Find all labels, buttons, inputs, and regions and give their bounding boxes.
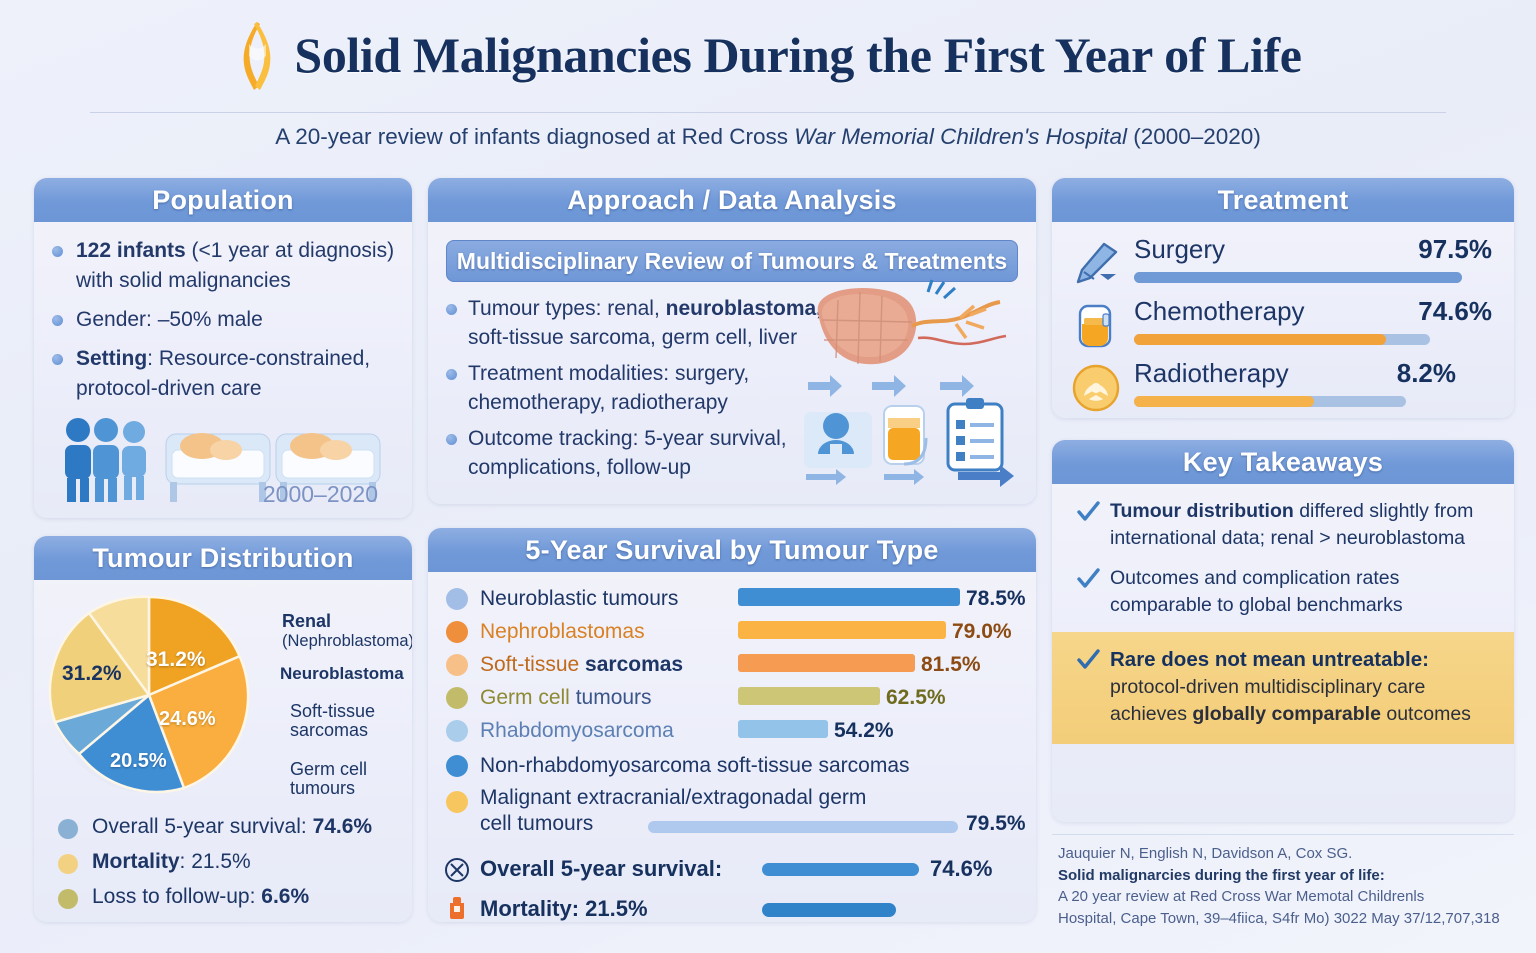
list-item: 122 infants (<1 year at diagnosis) with …	[50, 236, 396, 296]
legend-text: Overall 5-year survival:	[92, 815, 313, 838]
survival-label: Germ cell tumours	[480, 681, 652, 714]
bullet-dot-icon	[52, 315, 63, 326]
radiation-icon	[1070, 362, 1122, 414]
survival-bar	[738, 720, 828, 738]
infographic-page: Solid Malignancies During the First Year…	[0, 0, 1536, 953]
bullet-bold: neuroblastoma,	[666, 297, 822, 320]
list-item: Setting: Resource-constrained, protocol-…	[50, 344, 396, 404]
check-icon	[1076, 567, 1100, 591]
survival-label: Rhabdomyosarcoma	[480, 714, 674, 747]
citation-source-line-1: A 20 year review at Red Cross War Memota…	[1058, 886, 1528, 908]
panel-approach: Approach / Data Analysis Multidisciplina…	[428, 178, 1036, 504]
pie-label-soft-tissue: Soft-tissuesarcomas	[290, 702, 375, 740]
survival-value: 62.5%	[886, 681, 946, 714]
panel-treatment-title: Treatment	[1052, 178, 1514, 222]
legend-dot-icon	[446, 654, 468, 676]
awareness-ribbon-icon	[234, 16, 280, 94]
legend-row: Mortality: 21.5%	[54, 847, 404, 877]
survival-row: Neuroblastic tumours 78.5%	[442, 582, 1022, 615]
survival-bar	[738, 588, 960, 606]
legend-dot-icon	[446, 791, 468, 813]
panel-treatment-body: Surgery 97.5% Chemotherapy 74.6%	[1052, 222, 1514, 418]
survival-row: Germ cell tumours 62.5%	[442, 681, 1022, 714]
panel-population-title: Population	[34, 178, 412, 222]
list-item: Treatment modalities: surgery, chemother…	[444, 359, 836, 417]
survival-value: 79.0%	[952, 615, 1012, 648]
list-item: Outcome tracking: 5-year survival, compl…	[444, 424, 836, 482]
bullet-dot-icon	[52, 354, 63, 365]
subtitle-post: (2000–2020)	[1127, 124, 1261, 149]
pie-label-germ-cell: Germ celltumours	[290, 760, 367, 798]
panel-takeaways-title: Key Takeaways	[1052, 440, 1514, 484]
subtitle-pre: A 20-year review of infants diagnosed at…	[275, 124, 794, 149]
treatment-bar-track	[1134, 396, 1406, 407]
panel-population: Population 122 infants (<1 year at diagn…	[34, 178, 412, 518]
survival-value: 54.2%	[834, 714, 894, 747]
treatment-bar-track	[1134, 334, 1430, 345]
survival-row: Nephroblastomas 79.0%	[442, 615, 1022, 648]
takeaway-item: Tumour distribution differed slightly fr…	[1068, 498, 1498, 552]
legend-value: 6.6%	[261, 885, 309, 908]
takeaway-item-highlight: Rare does not mean untreatable: protocol…	[1068, 646, 1498, 728]
bullet-post: soft-tissue sarcoma, germ cell, liver	[468, 326, 797, 349]
population-year-caption: 2000–2020	[263, 481, 378, 508]
survival-label: Non-rhabdomyosarcoma soft-tissue sarcoma…	[480, 747, 910, 785]
mortality-urn-icon	[446, 895, 468, 921]
survival-value: 81.5%	[921, 648, 981, 681]
population-bullet-list: 122 infants (<1 year at diagnosis) with …	[50, 236, 396, 404]
treatment-bar-fill	[1134, 272, 1462, 283]
survival-row: Soft-tissue sarcomas 81.5%	[442, 648, 1022, 681]
citation-authors: Jauquier N, English N, Davidson A, Cox S…	[1058, 843, 1528, 865]
survival-bar	[738, 654, 915, 672]
pie-slice-value-soft-tissue: 20.5%	[110, 752, 167, 771]
bullet-dot-icon	[52, 246, 63, 257]
panel-treatment: Treatment Surgery 97.5%	[1052, 178, 1514, 418]
survival-row-wrapped: Malignant extracranial/extragonadal germ…	[442, 785, 1022, 841]
approach-bullet-list: Tumour types: renal, neuroblastoma, soft…	[444, 294, 836, 482]
takeaway-highlight-block: Rare does not mean untreatable: protocol…	[1052, 632, 1514, 744]
legend-dot-icon	[58, 819, 78, 839]
page-title: Solid Malignancies During the First Year…	[294, 26, 1301, 84]
check-icon	[1076, 500, 1100, 524]
survival-label: Soft-tissue sarcomas	[480, 648, 683, 681]
mortality-label: Mortality: 21.5%	[480, 889, 648, 922]
treatment-bar-track	[1134, 272, 1462, 283]
survival-label: Nephroblastomas	[480, 615, 645, 648]
survival-value: 79.5%	[966, 807, 1026, 840]
takeaway-bold: Tumour distribution	[1110, 500, 1294, 522]
page-subtitle: A 20-year review of infants diagnosed at…	[0, 124, 1536, 150]
survival-total-value: 74.6%	[930, 849, 992, 889]
treatment-label: Radiotherapy	[1134, 358, 1289, 389]
panel-population-body: 122 infants (<1 year at diagnosis) with …	[34, 222, 412, 423]
bullet-text: Treatment modalities: surgery, chemother…	[468, 362, 749, 414]
treatment-row-surgery: Surgery 97.5%	[1068, 234, 1498, 294]
survival-bar	[738, 621, 946, 639]
bullet-text: Gender: –50% male	[76, 308, 263, 331]
bullet-dot-icon	[446, 434, 457, 445]
treatment-value: 8.2%	[1397, 358, 1456, 389]
legend-row: Overall 5-year survival: 74.6%	[54, 812, 404, 842]
highlight-bold-lead: Rare does not mean untreatable:	[1110, 648, 1429, 671]
legend-dot-icon	[446, 588, 468, 610]
list-item: Gender: –50% male	[50, 305, 396, 335]
survival-total-bar	[762, 863, 919, 876]
bullet-pre: Tumour types: renal,	[468, 297, 666, 320]
bullet-dot-icon	[446, 304, 457, 315]
legend-dot-icon	[446, 755, 468, 777]
panel-takeaways-body: Tumour distribution differed slightly fr…	[1052, 484, 1514, 744]
scalpel-icon	[1070, 238, 1122, 290]
survival-label: Neuroblastic tumours	[480, 582, 678, 615]
highlight-bold-tail: globally comparable	[1192, 703, 1381, 725]
treatment-label: Chemotherapy	[1134, 296, 1305, 327]
panel-survival: 5-Year Survival by Tumour Type Neuroblas…	[428, 528, 1036, 922]
panel-approach-title: Approach / Data Analysis	[428, 178, 1036, 222]
liver-and-workflow-illustration	[800, 278, 1030, 488]
legend-value: 74.6%	[313, 815, 373, 838]
subtitle-hospital: War Memorial Children's Hospital	[794, 124, 1127, 149]
panel-key-takeaways: Key Takeaways Tumour distribution differ…	[1052, 440, 1514, 822]
citation-divider	[1052, 834, 1514, 835]
pie-slice-value-neuroblastoma: 24.6%	[159, 710, 216, 729]
legend-dot-icon	[446, 687, 468, 709]
legend-text: Loss to follow-up:	[92, 885, 261, 908]
pie-label-renal: Renal (Nephroblastoma)	[282, 612, 412, 651]
treatment-label: Surgery	[1134, 234, 1225, 265]
citation-source-line-2: Hospital, Cape Town, 39–4fiica, S4fr Mo)…	[1058, 908, 1528, 930]
legend-dot-icon	[58, 854, 78, 874]
mortality-row: Mortality: 21.5%	[442, 889, 1022, 922]
highlight-text-end: outcomes	[1381, 703, 1471, 725]
bullet-text: Outcome tracking: 5-year survival, compl…	[468, 427, 787, 479]
pie-slice-value-other: 31.2%	[62, 664, 122, 683]
survival-total-label: Overall 5-year survival:	[480, 849, 722, 889]
citation-block: Jauquier N, English N, Davidson A, Cox S…	[1058, 843, 1528, 929]
bullet-bold: 122 infants	[76, 239, 186, 262]
survival-value: 78.5%	[966, 582, 1026, 615]
survival-bar	[648, 821, 958, 833]
header-divider	[90, 112, 1446, 113]
bullet-dot-icon	[446, 369, 457, 380]
treatment-row-chemotherapy: Chemotherapy 74.6%	[1068, 296, 1498, 356]
citation-title: Solid malignarcies during the first year…	[1058, 865, 1528, 887]
mortality-bar	[762, 903, 896, 917]
survival-bar	[738, 687, 880, 705]
panel-survival-title: 5-Year Survival by Tumour Type	[428, 528, 1036, 572]
pie-slice-value-renal: 31.2%	[146, 650, 206, 669]
survival-total-row: Overall 5-year survival: 74.6%	[442, 849, 1022, 889]
legend-dot-icon	[446, 621, 468, 643]
legend-dot-icon	[446, 720, 468, 742]
panel-tumour-distribution: Tumour Distribution 31.2% 24.6% 20.5% 31…	[34, 536, 412, 922]
treatment-value: 74.6%	[1418, 296, 1492, 327]
panel-survival-body: Neuroblastic tumours 78.5% Nephroblastom…	[428, 572, 1036, 922]
crossed-circle-icon	[444, 857, 470, 883]
panel-distribution-title: Tumour Distribution	[34, 536, 412, 580]
takeaway-text: Outcomes and complication rates comparab…	[1110, 567, 1403, 616]
survival-row: Rhabdomyosarcoma 54.2%	[442, 714, 1022, 747]
legend-value: 21.5%	[191, 850, 251, 873]
takeaway-item: Outcomes and complication rates comparab…	[1068, 565, 1498, 619]
legend-label-bold: Mortality	[92, 850, 180, 873]
bullet-bold: Setting	[76, 347, 147, 370]
pie-label-neuroblastoma: Neuroblastoma	[280, 664, 404, 683]
approach-sub-banner: Multidisciplinary Review of Tumours & Tr…	[446, 240, 1018, 282]
treatment-value: 97.5%	[1418, 234, 1492, 265]
iv-bag-icon	[1070, 300, 1122, 352]
pie-chart: 31.2% 24.6% 20.5% 31.2%	[46, 592, 252, 798]
legend-dot-icon	[58, 889, 78, 909]
list-item: Tumour types: renal, neuroblastoma, soft…	[444, 294, 836, 352]
page-header: Solid Malignancies During the First Year…	[0, 0, 1536, 110]
treatment-bar-fill	[1134, 334, 1386, 345]
legend-row: Loss to follow-up: 6.6%	[54, 882, 404, 912]
distribution-legend: Overall 5-year survival: 74.6% Mortality…	[54, 812, 404, 917]
treatment-bar-fill	[1134, 396, 1314, 407]
treatment-row-radiotherapy: Radiotherapy 8.2%	[1068, 358, 1498, 418]
survival-row: Non-rhabdomyosarcoma soft-tissue sarcoma…	[442, 747, 1022, 785]
check-icon	[1076, 648, 1100, 672]
legend-text: :	[180, 850, 192, 873]
